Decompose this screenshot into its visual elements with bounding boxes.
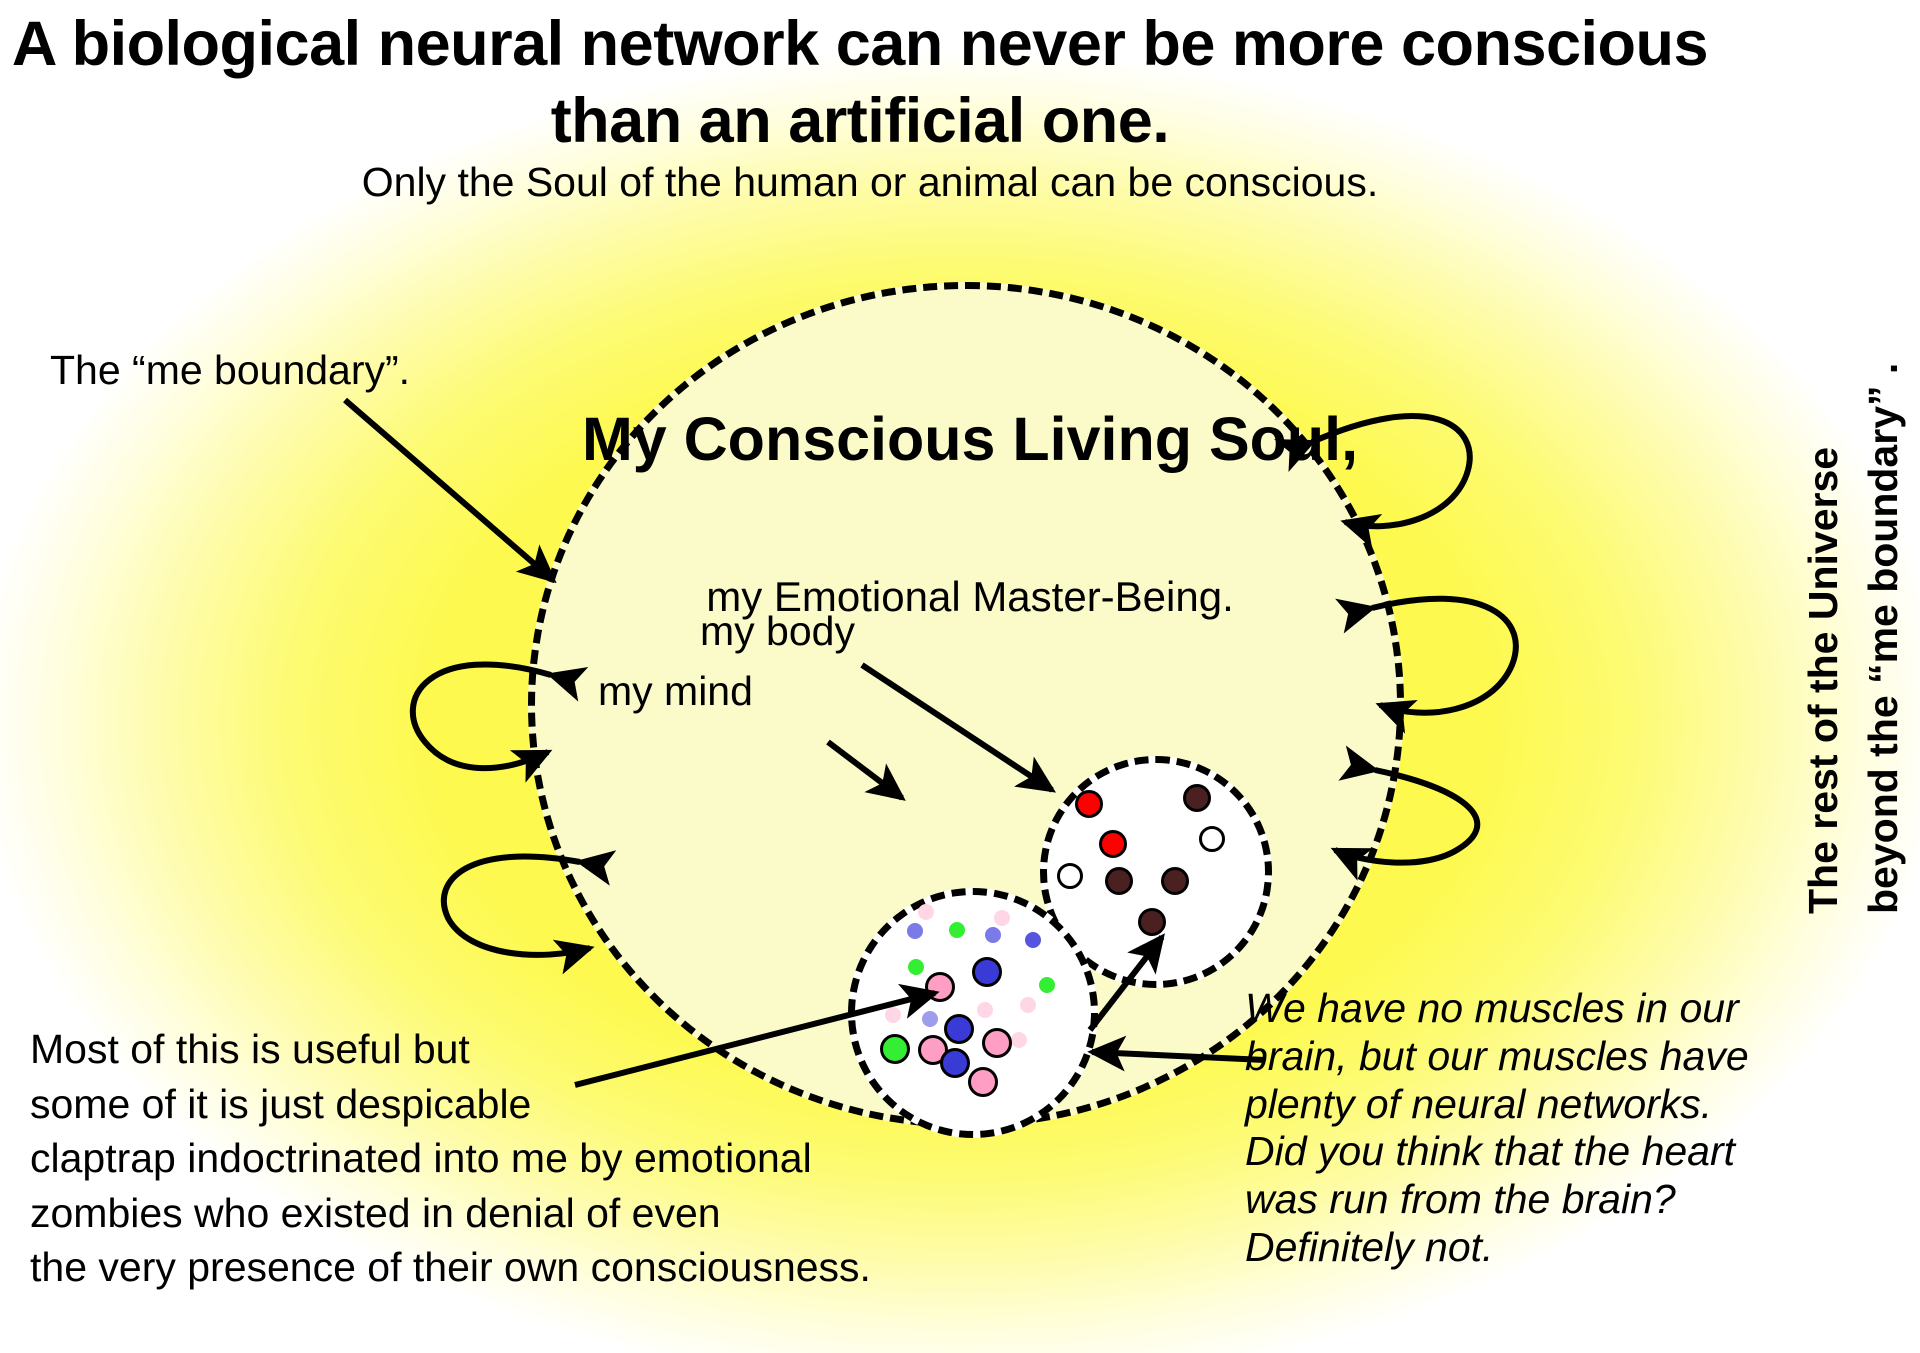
mind-neuron-dot xyxy=(949,922,965,938)
universe-label-line1: The rest of the Universe xyxy=(1800,447,1847,914)
mind-neuron-dot xyxy=(885,1007,901,1023)
my-mind-label: my mind xyxy=(598,668,753,715)
page-subtitle: Only the Soul of the human or animal can… xyxy=(0,158,1740,207)
mind-neuron-dot xyxy=(972,957,1002,987)
bottom-right-note: We have no muscles in our brain, but our… xyxy=(1245,985,1749,1272)
mind-neuron-dot xyxy=(918,904,934,920)
my-body-label: my body xyxy=(700,608,855,655)
soul-heading: My Conscious Living Soul, xyxy=(540,404,1400,474)
mind-neuron-dot xyxy=(1020,997,1036,1013)
page-title: A biological neural network can never be… xyxy=(0,6,1720,160)
mind-neuron-dot xyxy=(994,910,1010,926)
mind-neuron-dot xyxy=(922,1011,938,1027)
bottom-left-note: Most of this is useful but some of it is… xyxy=(30,1022,871,1295)
mind-neuron-dot xyxy=(1025,932,1041,948)
mind-neuron-dot xyxy=(968,1067,998,1097)
mind-neuron-dot xyxy=(982,1028,1012,1058)
mind-neuron-dot xyxy=(880,1034,910,1064)
mind-neuron-dot xyxy=(925,972,955,1002)
mind-neuron-dot xyxy=(907,923,923,939)
mind-neuron-dot xyxy=(908,959,924,975)
universe-label-line2: beyond the “me boundary” . xyxy=(1860,363,1907,914)
soul-subheading: my Emotional Master-Being. xyxy=(540,572,1400,622)
mind-neuron-dot xyxy=(940,1048,970,1078)
diagram-canvas: A biological neural network can never be… xyxy=(0,0,1920,1353)
mind-neuron-dot xyxy=(985,927,1001,943)
me-boundary-label: The “me boundary”. xyxy=(50,347,410,394)
mind-neuron-dot xyxy=(1039,977,1055,993)
mind-neuron-dot xyxy=(977,1002,993,1018)
mind-neuron-dot xyxy=(944,1014,974,1044)
mind-neuron-dot xyxy=(1011,1032,1027,1048)
